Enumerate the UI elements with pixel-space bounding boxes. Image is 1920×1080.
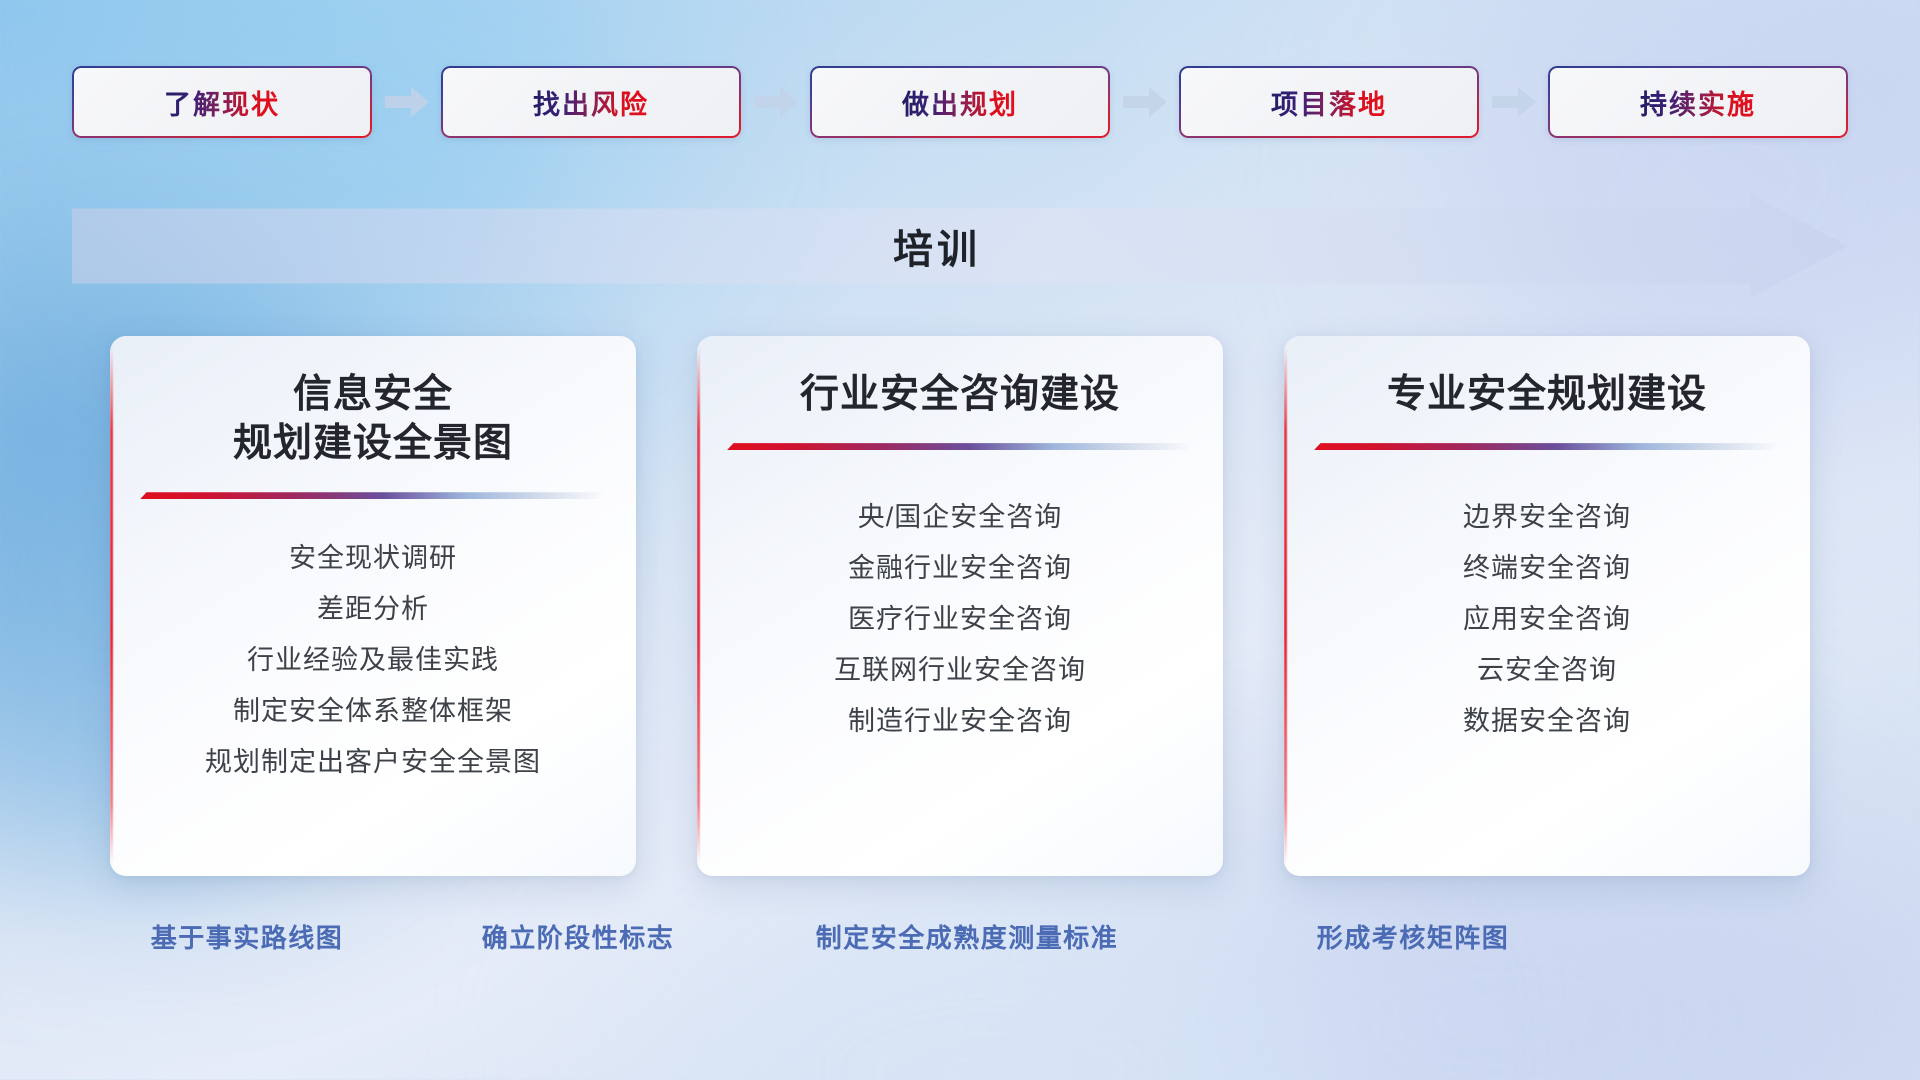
- list-item: 应用安全咨询: [1463, 594, 1631, 645]
- card-item-list: 边界安全咨询 终端安全咨询 应用安全咨询 云安全咨询 数据安全咨询: [1314, 492, 1780, 747]
- card-title: 信息安全 规划建设全景图: [233, 370, 513, 468]
- step-box-2[interactable]: 找出风险: [441, 66, 741, 138]
- list-item: 制定安全体系整体框架: [233, 686, 513, 737]
- training-banner: 培训: [72, 194, 1848, 298]
- card-information-security-blueprint[interactable]: 信息安全 规划建设全景图 安全现状调研 差距分析 行业经验及最佳实践 制定安全体…: [110, 336, 636, 876]
- step-box-5[interactable]: 持续实施: [1548, 66, 1848, 138]
- arrow-right-icon: [1123, 85, 1167, 119]
- step-label-4: 项目落地: [1271, 83, 1387, 122]
- card-title: 行业安全咨询建设: [800, 370, 1120, 419]
- list-item: 金融行业安全咨询: [848, 543, 1072, 594]
- footer-label-row: 基于事实路线图 确立阶段性标志 制定安全成熟度测量标准 形成考核矩阵图: [0, 918, 1920, 968]
- list-item: 云安全咨询: [1477, 645, 1617, 696]
- list-item: 安全现状调研: [289, 533, 457, 584]
- card-divider: [727, 443, 1193, 450]
- step-label-1: 了解现状: [164, 83, 280, 122]
- card-title: 专业安全规划建设: [1387, 370, 1707, 419]
- step-label-5: 持续实施: [1640, 83, 1756, 122]
- footer-label-3: 制定安全成熟度测量标准: [816, 918, 1119, 955]
- list-item: 数据安全咨询: [1463, 696, 1631, 747]
- footer-label-4: 形成考核矩阵图: [1317, 918, 1510, 955]
- footer-label-2: 确立阶段性标志: [482, 918, 675, 955]
- step-box-3[interactable]: 做出规划: [810, 66, 1110, 138]
- arrow-right-icon: [385, 85, 429, 119]
- step-box-4[interactable]: 项目落地: [1179, 66, 1479, 138]
- process-step-row: 了解现状 找出风险 做出规划 项目落地 持续实施: [72, 66, 1848, 138]
- list-item: 规划制定出客户安全全景图: [205, 737, 541, 788]
- list-item: 差距分析: [317, 584, 429, 635]
- step-label-2: 找出风险: [533, 83, 649, 122]
- list-item: 医疗行业安全咨询: [848, 594, 1072, 645]
- footer-label-1: 基于事实路线图: [151, 918, 344, 955]
- card-divider: [140, 492, 606, 499]
- list-item: 终端安全咨询: [1463, 543, 1631, 594]
- card-industry-security-consulting[interactable]: 行业安全咨询建设 央/国企安全咨询 金融行业安全咨询 医疗行业安全咨询 互联网行…: [697, 336, 1223, 876]
- arrow-right-icon: [1492, 85, 1536, 119]
- arrow-right-icon: [754, 85, 798, 119]
- list-item: 央/国企安全咨询: [858, 492, 1063, 543]
- list-item: 互联网行业安全咨询: [834, 645, 1086, 696]
- card-professional-security-planning[interactable]: 专业安全规划建设 边界安全咨询 终端安全咨询 应用安全咨询 云安全咨询 数据安全…: [1284, 336, 1810, 876]
- banner-title: 培训: [72, 194, 1848, 298]
- step-label-3: 做出规划: [902, 83, 1018, 122]
- card-item-list: 安全现状调研 差距分析 行业经验及最佳实践 制定安全体系整体框架 规划制定出客户…: [140, 533, 606, 788]
- list-item: 行业经验及最佳实践: [247, 635, 499, 686]
- step-box-1[interactable]: 了解现状: [72, 66, 372, 138]
- list-item: 边界安全咨询: [1463, 492, 1631, 543]
- card-item-list: 央/国企安全咨询 金融行业安全咨询 医疗行业安全咨询 互联网行业安全咨询 制造行…: [727, 492, 1193, 747]
- card-row: 信息安全 规划建设全景图 安全现状调研 差距分析 行业经验及最佳实践 制定安全体…: [110, 336, 1810, 876]
- list-item: 制造行业安全咨询: [848, 696, 1072, 747]
- card-divider: [1314, 443, 1780, 450]
